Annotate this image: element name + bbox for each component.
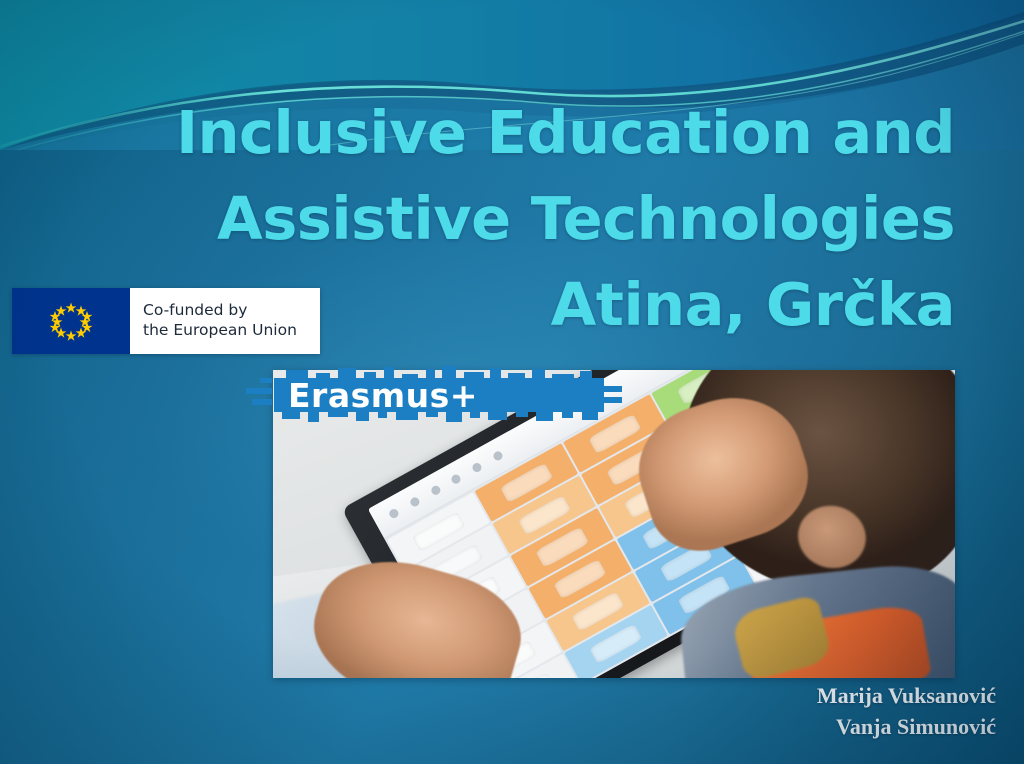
title-line-2: Assistive Technologies xyxy=(60,190,955,248)
eu-cofunding-text: Co-funded by the European Union xyxy=(130,288,320,354)
erasmus-plus-logo: Erasmus+ xyxy=(246,366,622,428)
erasmus-wordmark: Erasmus+ xyxy=(288,376,478,415)
eu-cofunding-logo: Co-funded by the European Union xyxy=(12,288,320,354)
author-name-1: Marija Vuksanović xyxy=(817,680,996,711)
author-list: Marija Vuksanović Vanja Simunović xyxy=(817,680,996,742)
title-slide: Inclusive Education and Assistive Techno… xyxy=(0,0,1024,764)
eu-text-line-1: Co-funded by xyxy=(143,301,320,321)
author-name-2: Vanja Simunović xyxy=(817,711,996,742)
eu-text-line-2: the European Union xyxy=(143,321,320,341)
title-line-1: Inclusive Education and xyxy=(60,104,955,162)
european-union-flag-icon xyxy=(12,288,130,354)
